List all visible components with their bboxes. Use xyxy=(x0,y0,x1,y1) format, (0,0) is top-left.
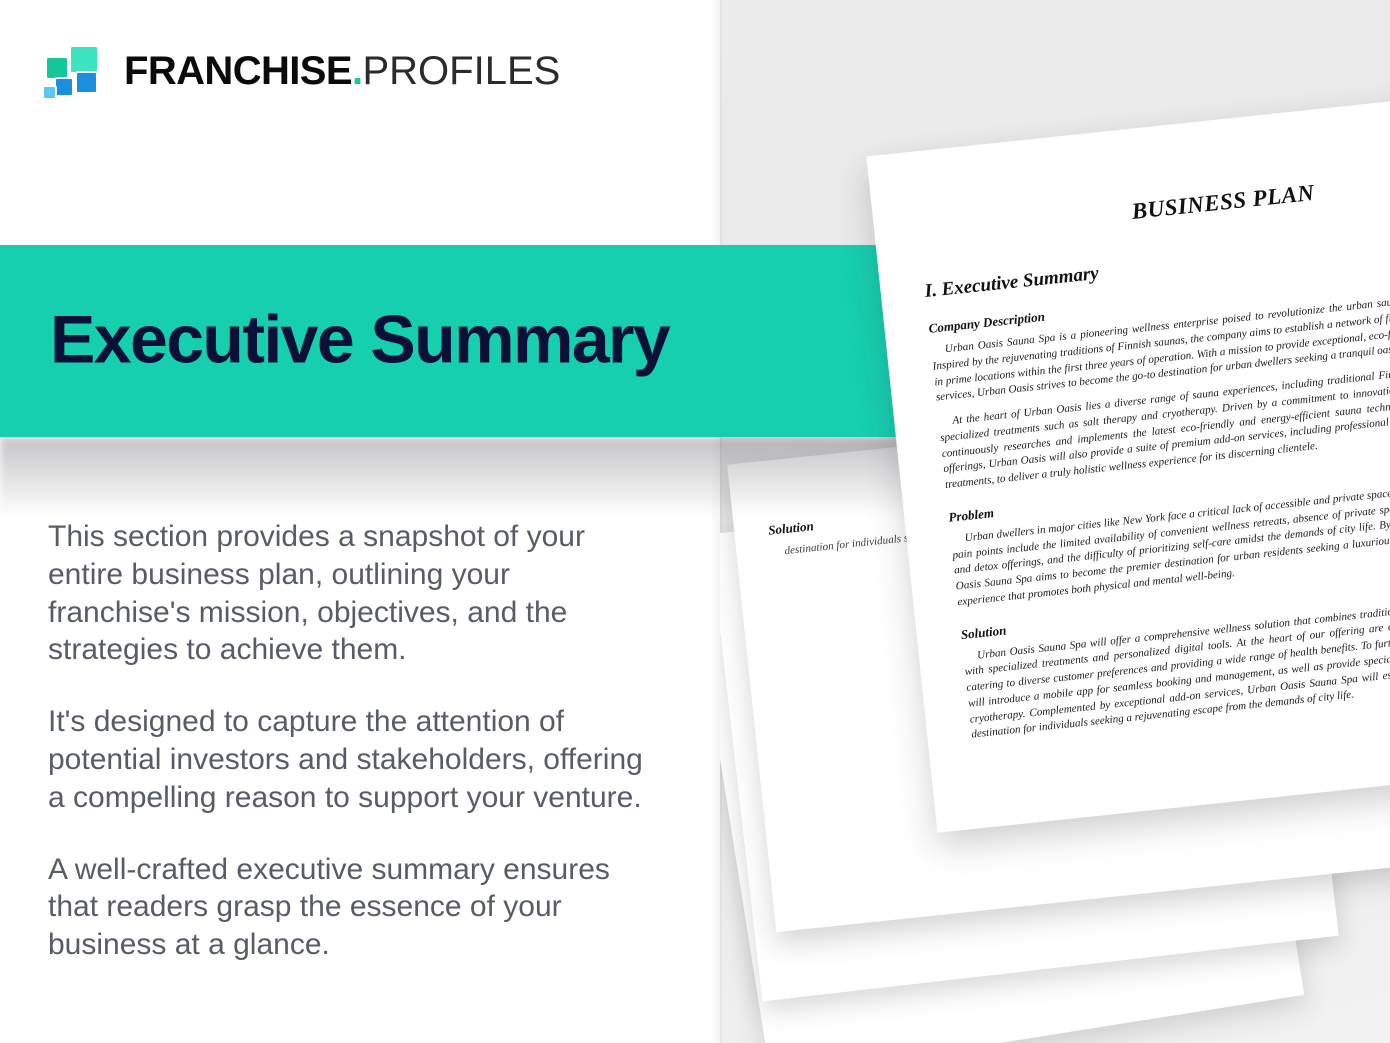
doc-title: BUSINESS PLAN xyxy=(917,157,1390,247)
document-page-top: BUSINESS PLAN I. Executive Summary Compa… xyxy=(866,83,1390,832)
brand-name-secondary: PROFILES xyxy=(362,49,560,93)
banner-drop-shadow xyxy=(0,437,940,517)
body-copy: This section provides a snapshot of your… xyxy=(48,518,648,964)
brand-wordmark: FRANCHISE.PROFILES xyxy=(124,51,560,91)
brand-logo[interactable]: FRANCHISE.PROFILES xyxy=(44,46,560,96)
body-paragraph-3: A well-crafted executive summary ensures… xyxy=(48,851,648,964)
brand-name-dot: . xyxy=(352,49,363,93)
five-squares-logo-mark-icon xyxy=(44,46,102,96)
logo-square-teal-light xyxy=(71,47,97,72)
section-banner: Executive Summary xyxy=(0,245,940,437)
body-paragraph-1: This section provides a snapshot of your… xyxy=(48,518,648,669)
logo-square-sky xyxy=(44,87,55,98)
document-stack: Solution destination for individuals see… xyxy=(720,0,1390,1043)
page-title: Executive Summary xyxy=(50,300,669,378)
brand-name-primary: FRANCHISE xyxy=(124,49,352,93)
logo-square-teal-dark xyxy=(47,58,67,78)
logo-square-blue xyxy=(77,73,96,92)
logo-square-blue-small xyxy=(56,79,72,95)
body-paragraph-2: It's designed to capture the attention o… xyxy=(48,703,648,816)
